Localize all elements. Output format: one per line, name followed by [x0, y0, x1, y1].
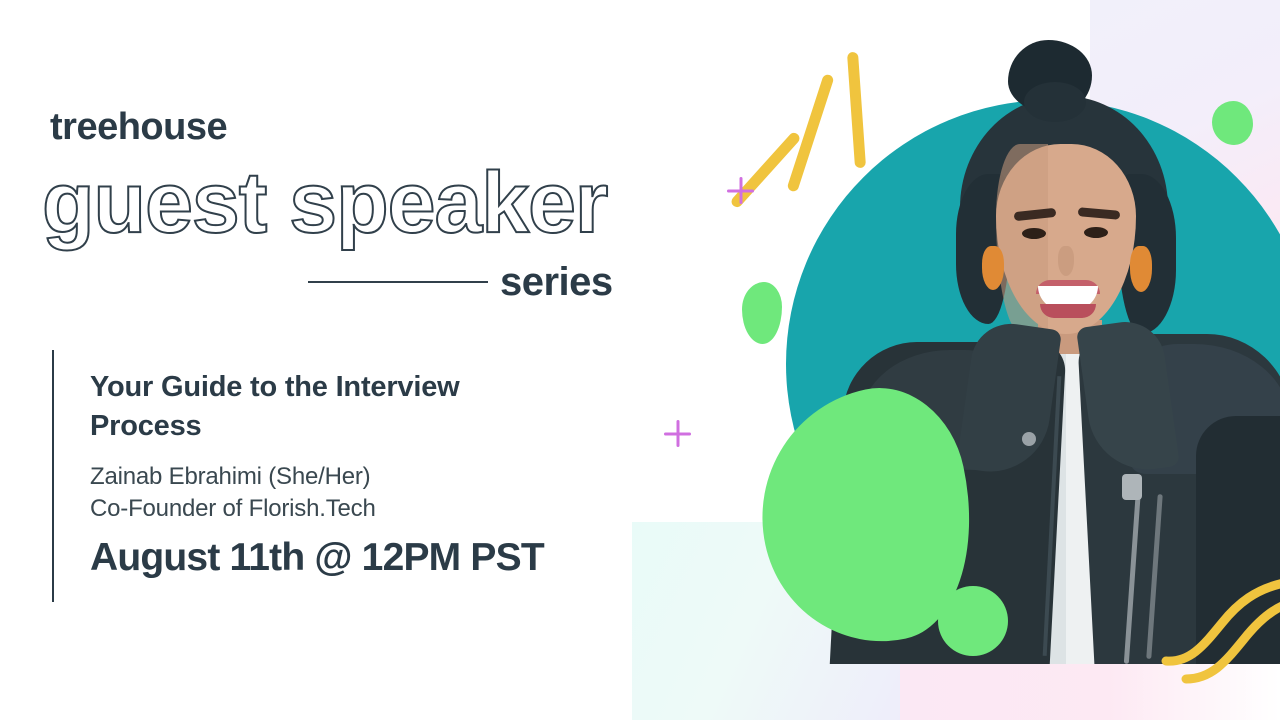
green-circle-bottom: [938, 586, 1008, 656]
eye-left: [1022, 228, 1046, 239]
hair-bun-inner: [1024, 82, 1086, 122]
nose: [1058, 246, 1074, 276]
zipper-pull: [1122, 474, 1142, 500]
promo-slide: treehouse guest speaker series Your Guid…: [0, 0, 1280, 720]
event-datetime: August 11th @ 12PM PST: [90, 537, 544, 580]
speaker-name: Zainab Ebrahimi (She/Her): [90, 461, 370, 493]
lower-lip: [1040, 304, 1096, 318]
jacket-stud: [1022, 432, 1036, 446]
green-blob-small: [742, 282, 782, 344]
talk-title: Your Guide to the Interview Process: [90, 368, 510, 445]
speaker-role: Co-Founder of Florish.Tech: [90, 493, 376, 525]
brand-wordmark: treehouse: [50, 108, 227, 146]
accent-bar: [52, 350, 54, 602]
eye-right: [1084, 227, 1108, 238]
series-label: series: [500, 258, 613, 306]
earring-right: [1130, 246, 1152, 292]
series-divider: [308, 281, 488, 283]
plus-mark-icon: [727, 177, 754, 204]
plus-mark-icon: [664, 420, 691, 447]
page-title: guest speaker: [42, 160, 607, 246]
squiggle-lines-icon: [1160, 575, 1280, 685]
series-row: series: [308, 258, 628, 306]
earring-left: [982, 246, 1004, 290]
